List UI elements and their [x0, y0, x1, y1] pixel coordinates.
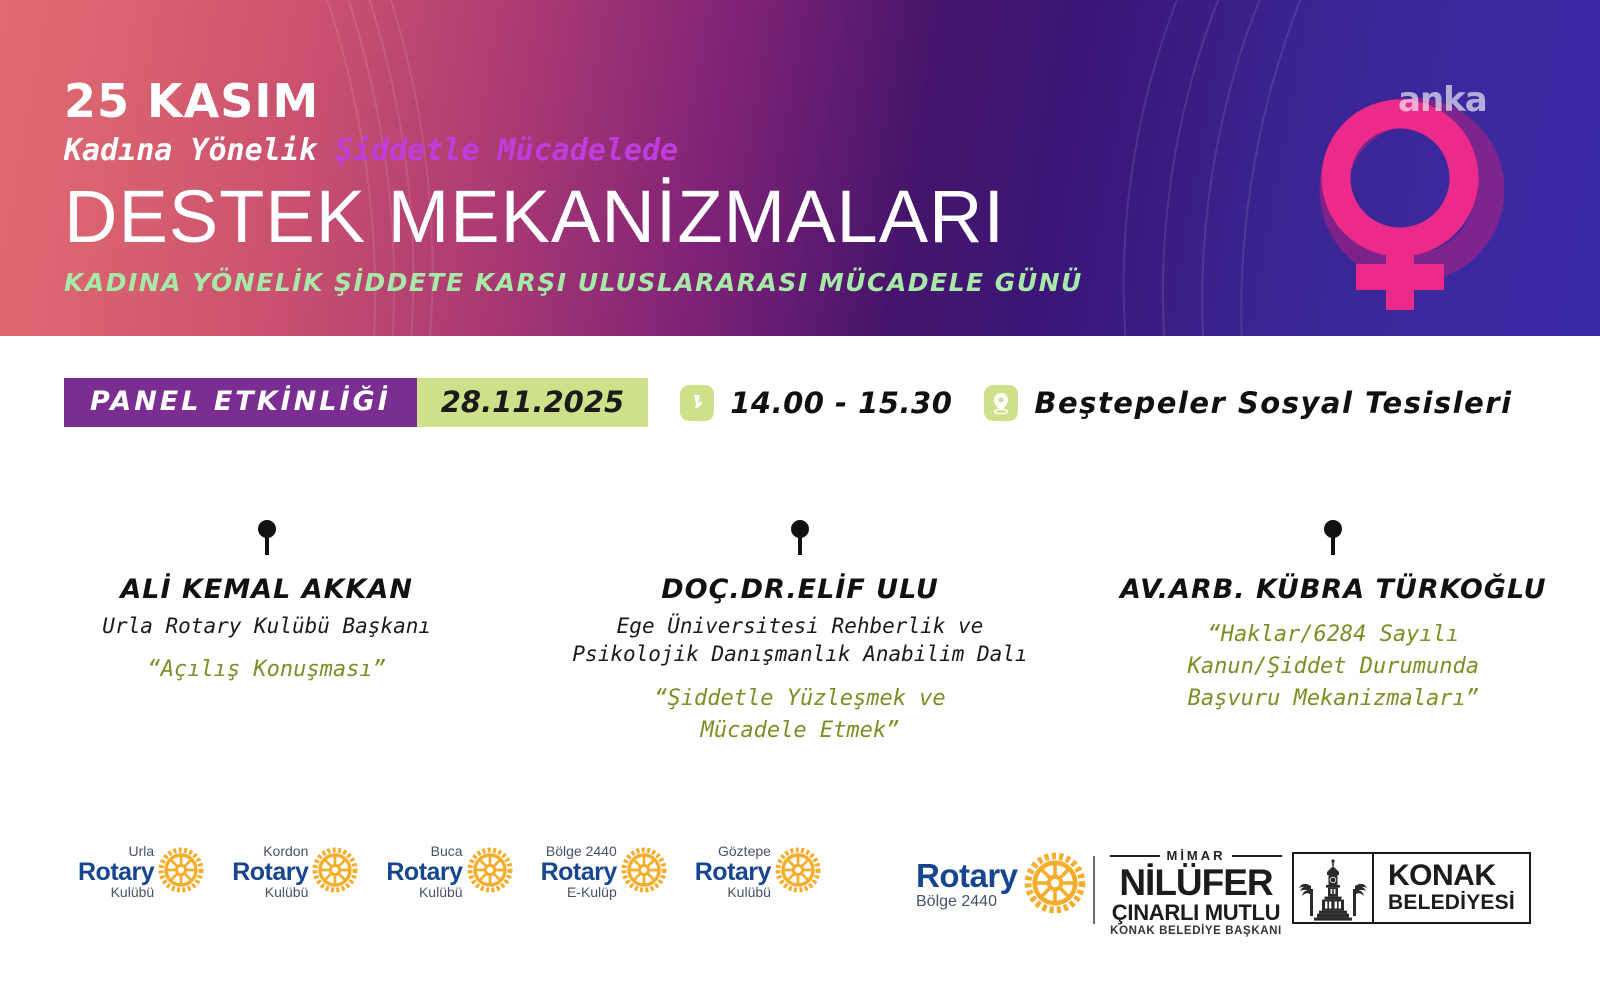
clock-icon: [680, 385, 714, 421]
rotary-wheel-icon: [467, 847, 513, 897]
rotary-club-logo: Buca Rotary Kulübü: [386, 844, 512, 900]
header-subtitle-plain: Kadına Yönelik: [64, 133, 335, 168]
event-type-badge: PANEL ETKİNLİĞİ: [64, 378, 417, 427]
club-rotary-label: Rotary: [695, 859, 771, 885]
rotary-district-label: Rotary: [916, 859, 1018, 894]
nilufer-title: KONAK BELEDİYE BAŞKANI: [1110, 925, 1282, 939]
rotary-wheel-icon: [312, 847, 358, 897]
header-text-block: 25 KASIM Kadına Yönelik Şiddetle Mücadel…: [64, 78, 1083, 295]
club-city-label: Kordon: [232, 844, 308, 859]
rotary-wheel-icon: [621, 847, 667, 897]
club-type-label: Kulübü: [232, 885, 308, 900]
speakers-section: ALİ KEMAL AKKAN Urla Rotary Kulübü Başka…: [0, 520, 1600, 747]
poster-footer: Urla Rotary Kulübü: [0, 836, 1600, 946]
speaker-card: ALİ KEMAL AKKAN Urla Rotary Kulübü Başka…: [0, 520, 533, 747]
rotary-district-number: Bölge 2440: [916, 894, 1018, 911]
club-rotary-label: Rotary: [232, 859, 308, 885]
speaker-pin-icon: [559, 520, 1040, 560]
konak-clock-tower-icon: [1294, 854, 1374, 922]
speaker-topic: “Haklar/6284 SayılıKanun/Şiddet Durumund…: [1093, 619, 1574, 715]
club-rotary-label: Rotary: [78, 859, 154, 885]
rotary-club-logo: Urla Rotary Kulübü: [78, 844, 204, 900]
club-type-label: E-Kulüp: [541, 885, 617, 900]
rule-right: [1232, 855, 1282, 857]
footer-divider: [1093, 856, 1095, 924]
club-city-label: Göztepe: [695, 844, 771, 859]
header-subtitle-1: Kadına Yönelik Şiddetle Mücadelede: [64, 136, 1083, 166]
speaker-pin-icon: [26, 520, 507, 560]
speaker-role: Urla Rotary Kulübü Başkanı: [26, 612, 507, 640]
speaker-topic: “Açılış Konuşması”: [26, 654, 507, 686]
header-date-line: 25 KASIM: [64, 78, 1083, 124]
poster-root: anka 25 KASIM Kadına Yönelik Şiddetle Mü…: [0, 0, 1600, 1000]
club-city-label: Urla: [78, 844, 154, 859]
nilufer-eyebrow: MİMAR: [1166, 848, 1225, 863]
speaker-card: AV.ARB. KÜBRA TÜRKOĞLU “Haklar/6284 Sayı…: [1067, 520, 1600, 747]
header-main-title: DESTEK MEKANİZMALARI: [64, 180, 1083, 254]
speaker-role: Ege Üniversitesi Rehberlik vePsikolojik …: [559, 612, 1040, 669]
rotary-club-logo: Kordon Rotary Kulübü: [232, 844, 358, 900]
header-subtitle-2: KADINA YÖNELİK ŞİDDETE KARŞI ULUSLARARAS…: [64, 270, 1083, 295]
rotary-club-logo: Göztepe Rotary Kulübü: [695, 844, 821, 900]
club-type-label: Kulübü: [386, 885, 462, 900]
event-location-text: Beştepeler Sosyal Tesisleri: [1034, 386, 1512, 420]
konak-subtitle: BELEDİYESİ: [1388, 891, 1515, 914]
poster-header: anka 25 KASIM Kadına Yönelik Şiddetle Mü…: [0, 0, 1600, 336]
female-gender-symbol-icon: [1318, 98, 1504, 317]
speaker-name: AV.ARB. KÜBRA TÜRKOĞLU: [1093, 574, 1574, 605]
speaker-name: ALİ KEMAL AKKAN: [26, 574, 507, 605]
speaker-card: DOÇ.DR.ELİF ULU Ege Üniversitesi Rehberl…: [533, 520, 1066, 747]
rotary-wheel-icon: [158, 847, 204, 897]
rotary-district-logo: Rotary Bölge 2440: [916, 852, 1086, 918]
nilufer-name: NİLÜFER: [1110, 864, 1282, 901]
club-rotary-label: Rotary: [386, 859, 462, 885]
speaker-pin-icon: [1093, 520, 1574, 560]
rotary-wheel-icon: [1024, 852, 1086, 918]
nilufer-cinarli-mutlu-logo: MİMAR NİLÜFER ÇINARLI MUTLU KONAK BELEDİ…: [1110, 848, 1282, 939]
header-subtitle-highlight: Şiddetle Mücadelede: [335, 133, 678, 168]
rule-left: [1110, 855, 1160, 857]
rotary-club-logo: Bölge 2440 Rotary E-Kulüp: [541, 844, 667, 900]
event-time-text: 14.00 - 15.30: [730, 386, 952, 420]
club-rotary-label: Rotary: [541, 859, 617, 885]
konak-title: KONAK: [1388, 861, 1515, 891]
event-date-badge: 28.11.2025: [417, 378, 648, 427]
konak-belediyesi-logo: KONAK BELEDİYESİ: [1292, 852, 1531, 924]
anka-logo: anka: [1398, 80, 1487, 120]
speaker-topic: “Şiddetle Yüzleşmek veMücadele Etmek”: [559, 683, 1040, 747]
club-type-label: Kulübü: [695, 885, 771, 900]
club-type-label: Kulübü: [78, 885, 154, 900]
nilufer-surname: ÇINARLI MUTLU: [1110, 901, 1282, 924]
rotary-clubs-row: Urla Rotary Kulübü: [78, 844, 821, 900]
rotary-wheel-icon: [775, 847, 821, 897]
event-info-bar: PANEL ETKİNLİĞİ 28.11.2025 14.00 - 15.30…: [64, 378, 1513, 427]
club-city-label: Bölge 2440: [541, 844, 617, 859]
location-pin-icon: [984, 385, 1018, 421]
speaker-name: DOÇ.DR.ELİF ULU: [559, 574, 1040, 605]
club-city-label: Buca: [386, 844, 462, 859]
